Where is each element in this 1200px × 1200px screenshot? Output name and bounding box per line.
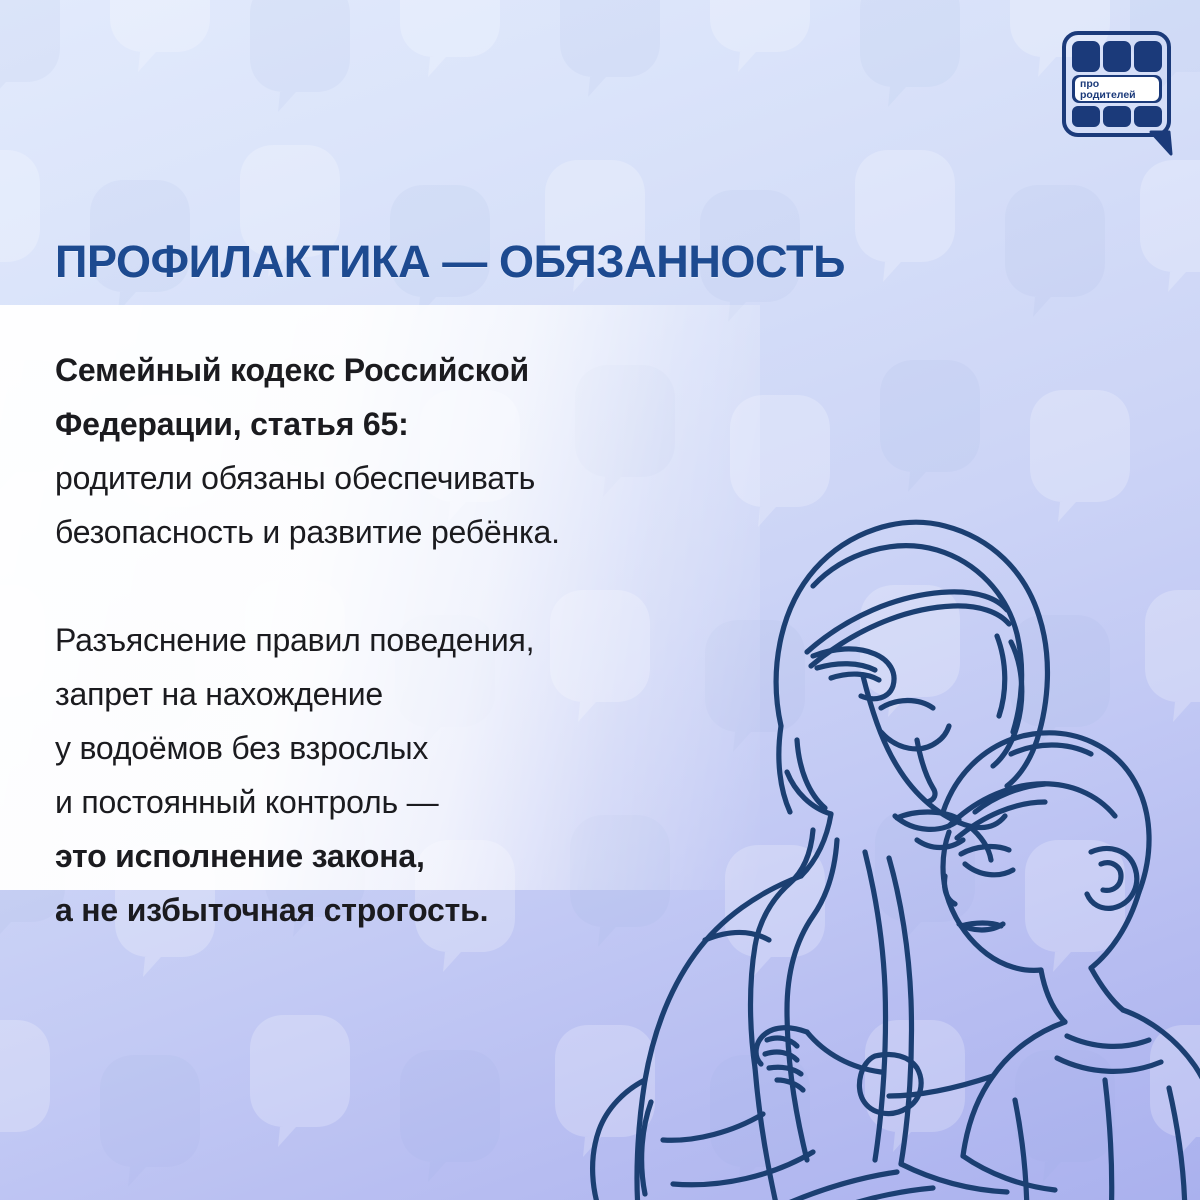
body-line: Федерации, статья 65: [55,397,715,451]
body-line: запрет на нахождение [55,667,715,721]
body-line: Семейный кодекс Российской [55,343,715,397]
paragraph-explanation: Разъяснение правил поведения, запрет на … [55,613,715,937]
body-line: Разъяснение правил поведения, [55,613,715,667]
page-title: ПРОФИЛАКТИКА — ОБЯЗАННОСТЬ [55,236,845,288]
pro-roditelei-logo[interactable]: про родителей [1059,28,1181,156]
body-line: у водоёмов без взрослых [55,721,715,775]
body-line: родители обязаны обеспечивать [55,451,715,505]
body-line: это исполнение закона, [55,829,715,883]
body-line: а не избыточная строгость. [55,883,715,937]
body-line: и постоянный контроль — [55,775,715,829]
logo-line-2: родителей [1080,89,1136,101]
paragraph-law-reference: Семейный кодекс Российской Федерации, ст… [55,343,715,559]
paragraph-spacer [55,559,715,613]
poster-canvas: ПРОФИЛАКТИКА — ОБЯЗАННОСТЬ Семейный коде… [0,0,1200,1200]
body-line: безопасность и развитие ребёнка. [55,505,715,559]
body-copy: Семейный кодекс Российской Федерации, ст… [55,343,715,937]
